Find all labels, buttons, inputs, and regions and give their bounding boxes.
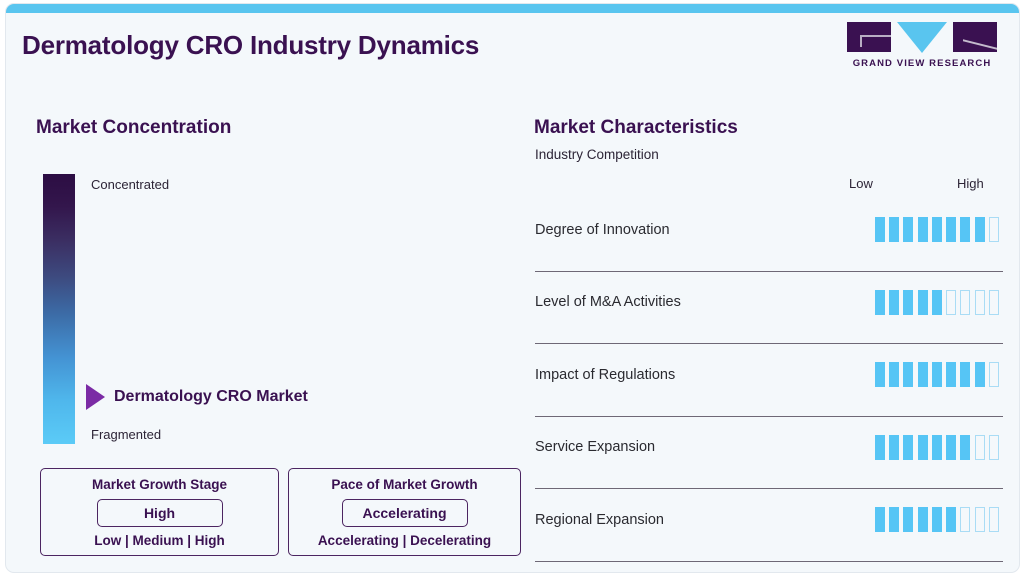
rating-bar-filled [960,435,970,460]
rating-bar-filled [918,362,928,387]
characteristic-row-inner: Impact of Regulations [529,362,1019,387]
rating-bar-filled [946,362,956,387]
market-position-label: Dermatology CRO Market [114,388,308,406]
characteristic-label: Service Expansion [529,439,655,455]
rating-bar-filled [889,217,899,242]
scale-high-label: High [957,176,984,191]
market-growth-stage-value-box: High [97,499,223,527]
rating-bar-empty [975,435,985,460]
market-growth-stage-options: Low | Medium | High [53,533,266,548]
rating-bar-empty [960,290,970,315]
characteristic-rating-bars [875,362,1019,387]
rating-bar-filled [889,507,899,532]
rating-bar-filled [932,217,942,242]
rating-bar-filled [903,435,913,460]
market-characteristics-subtitle: Industry Competition [535,147,659,162]
rating-bar-filled [946,435,956,460]
rating-bar-filled [903,507,913,532]
rating-bar-empty [975,507,985,532]
concentration-gradient-bar [43,174,75,444]
market-growth-stage-value: High [98,505,222,521]
rating-bar-filled [975,362,985,387]
characteristic-row-inner: Level of M&A Activities [529,290,1019,315]
market-concentration-title: Market Concentration [36,117,231,139]
rating-bar-filled [932,362,942,387]
page-title: Dermatology CRO Industry Dynamics [22,30,479,61]
characteristic-row-inner: Degree of Innovation [529,217,1019,242]
characteristic-label: Regional Expansion [529,512,664,528]
rating-bar-filled [932,290,942,315]
rating-bar-filled [918,290,928,315]
triangle-pointer-icon [86,384,105,410]
rating-bar-filled [932,507,942,532]
header: Dermatology CRO Industry Dynamics GRAND … [6,13,1019,91]
pace-of-market-growth-title: Pace of Market Growth [301,477,508,492]
stat-boxes: Market Growth Stage High Low | Medium | … [40,468,521,556]
pace-of-market-growth-box: Pace of Market Growth Accelerating Accel… [288,468,521,556]
rating-bar-filled [875,290,885,315]
characteristic-row: Degree of Innovation [529,199,1019,272]
rating-bar-filled [946,507,956,532]
market-concentration-panel: Market Concentration Concentrated Fragme… [6,94,516,572]
characteristic-label: Impact of Regulations [529,367,675,383]
characteristic-label: Level of M&A Activities [529,294,681,310]
grand-view-research-logo: GRAND VIEW RESEARCH [847,22,997,82]
characteristic-rating-bars [875,435,1019,460]
rating-bar-filled [960,362,970,387]
rating-bar-empty [989,507,999,532]
characteristic-row: Level of M&A Activities [529,272,1019,345]
market-characteristics-title: Market Characteristics [534,117,738,139]
rating-bar-filled [889,290,899,315]
rating-bar-empty [960,507,970,532]
logo-triangle-icon [897,22,947,53]
rating-bar-empty [975,290,985,315]
characteristic-rating-bars [875,507,1019,532]
rating-bar-filled [918,217,928,242]
rating-bar-filled [975,217,985,242]
market-position-marker: Dermatology CRO Market [86,384,308,410]
logo-wordmark: GRAND VIEW RESEARCH [847,58,997,69]
characteristics-rows: Degree of InnovationLevel of M&A Activit… [529,199,1019,562]
pace-of-market-growth-options: Accelerating | Decelerating [301,533,508,548]
characteristic-row: Service Expansion [529,417,1019,490]
rating-bar-filled [918,507,928,532]
rating-bar-empty [989,290,999,315]
rating-bar-empty [989,435,999,460]
characteristic-row: Impact of Regulations [529,344,1019,417]
rating-bar-filled [932,435,942,460]
pace-of-market-growth-value: Accelerating [343,505,467,521]
characteristic-rating-bars [875,290,1019,315]
characteristic-row-inner: Service Expansion [529,435,1019,460]
rating-bar-filled [875,362,885,387]
rating-bar-filled [903,217,913,242]
market-growth-stage-title: Market Growth Stage [53,477,266,492]
characteristic-row-inner: Regional Expansion [529,507,1019,532]
rating-bar-filled [918,435,928,460]
rating-bar-filled [903,362,913,387]
scale-bottom-label: Fragmented [91,427,161,442]
characteristic-row: Regional Expansion [529,489,1019,562]
rating-scale-labels: Low High [529,176,1019,194]
rating-bar-filled [946,217,956,242]
pace-of-market-growth-value-box: Accelerating [342,499,468,527]
scale-low-label: Low [849,176,873,191]
rating-bar-filled [903,290,913,315]
rating-bar-filled [875,507,885,532]
scale-top-label: Concentrated [91,177,169,192]
row-divider [535,561,1003,562]
logo-left-box-icon [847,22,891,52]
rating-bar-filled [960,217,970,242]
rating-bar-empty [946,290,956,315]
characteristic-label: Degree of Innovation [529,222,670,238]
rating-bar-filled [875,217,885,242]
rating-bar-filled [875,435,885,460]
characteristic-rating-bars [875,217,1019,242]
logo-right-box-icon [953,22,997,52]
rating-bar-empty [989,362,999,387]
top-accent-bar [6,4,1019,13]
concentration-scale: Concentrated Fragmented [43,174,75,444]
logo-marks [847,22,997,54]
market-characteristics-panel: Market Characteristics Industry Competit… [529,94,1019,572]
rating-bar-filled [889,435,899,460]
rating-bar-empty [989,217,999,242]
market-growth-stage-box: Market Growth Stage High Low | Medium | … [40,468,279,556]
rating-bar-filled [889,362,899,387]
infographic-page: Dermatology CRO Industry Dynamics GRAND … [6,4,1019,572]
